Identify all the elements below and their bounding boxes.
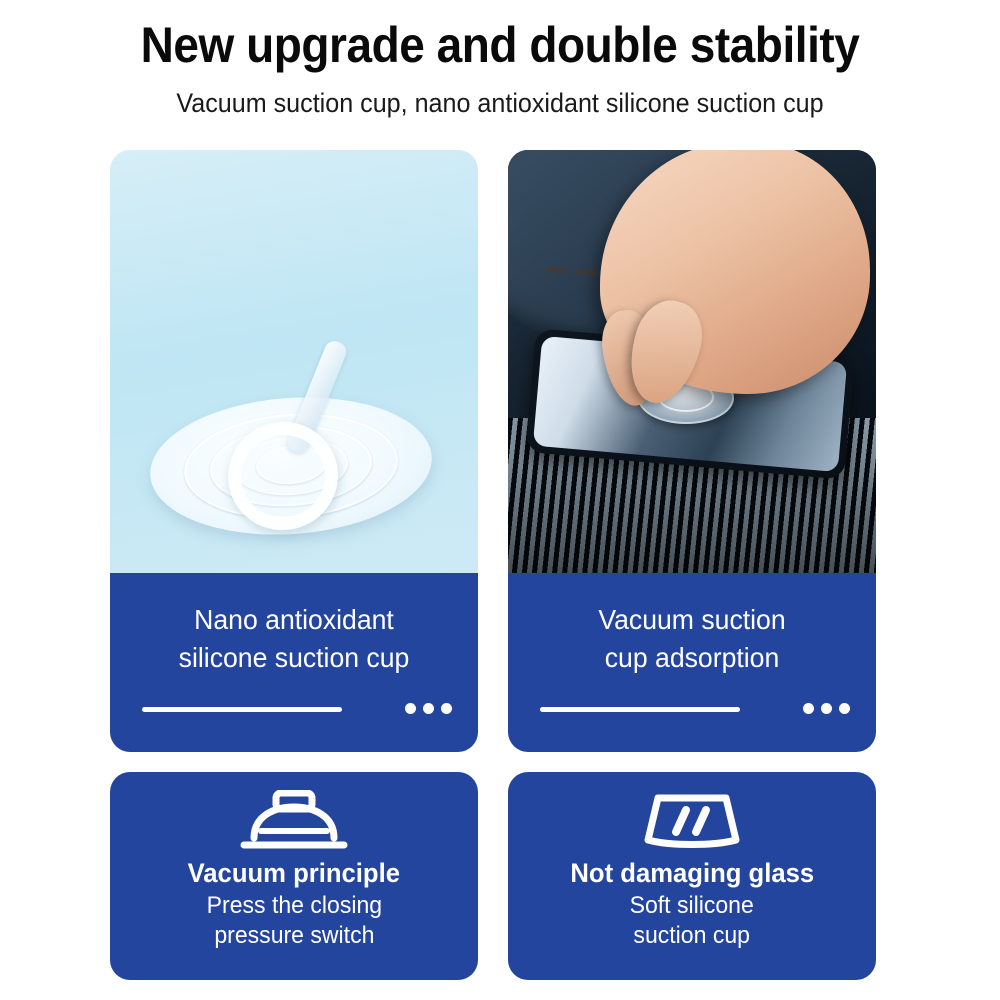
page-header: New upgrade and double stability Vacuum …: [0, 0, 1000, 140]
product-photo-hand-phone-dashboard: [508, 150, 876, 573]
card-caption: Nano antioxidant silicone suction cup: [110, 573, 478, 752]
card-caption: Vacuum suction cup adsorption: [508, 573, 876, 752]
feature-title: Not damaging glass: [570, 858, 814, 889]
feature-card-not-damaging-glass[interactable]: Not damaging glass Soft silicone suction…: [508, 772, 876, 980]
more-dots-icon[interactable]: [803, 703, 850, 714]
feature-card-vacuum-principle[interactable]: Vacuum principle Press the closing press…: [110, 772, 478, 980]
page-subtitle: Vacuum suction cup, nano antioxidant sil…: [35, 88, 965, 119]
feature-title: Vacuum principle: [188, 858, 400, 889]
feature-subtitle: Soft silicone suction cup: [630, 891, 754, 951]
suction-cup-icon: [234, 790, 354, 852]
windshield-glass-icon: [632, 790, 752, 852]
feature-card-nano-antioxidant[interactable]: Nano antioxidant silicone suction cup: [110, 150, 478, 752]
page-title: New upgrade and double stability: [40, 16, 960, 74]
card-caption-text: Nano antioxidant silicone suction cup: [119, 601, 469, 677]
caption-rule: [142, 707, 342, 712]
card-caption-text: Vacuum suction cup adsorption: [517, 601, 867, 677]
product-photo-suction-cup: [110, 150, 478, 573]
feature-card-vacuum-adsorption[interactable]: Vacuum suction cup adsorption: [508, 150, 876, 752]
caption-rule: [540, 707, 740, 712]
feature-subtitle: Press the closing pressure switch: [206, 891, 381, 951]
more-dots-icon[interactable]: [405, 703, 452, 714]
